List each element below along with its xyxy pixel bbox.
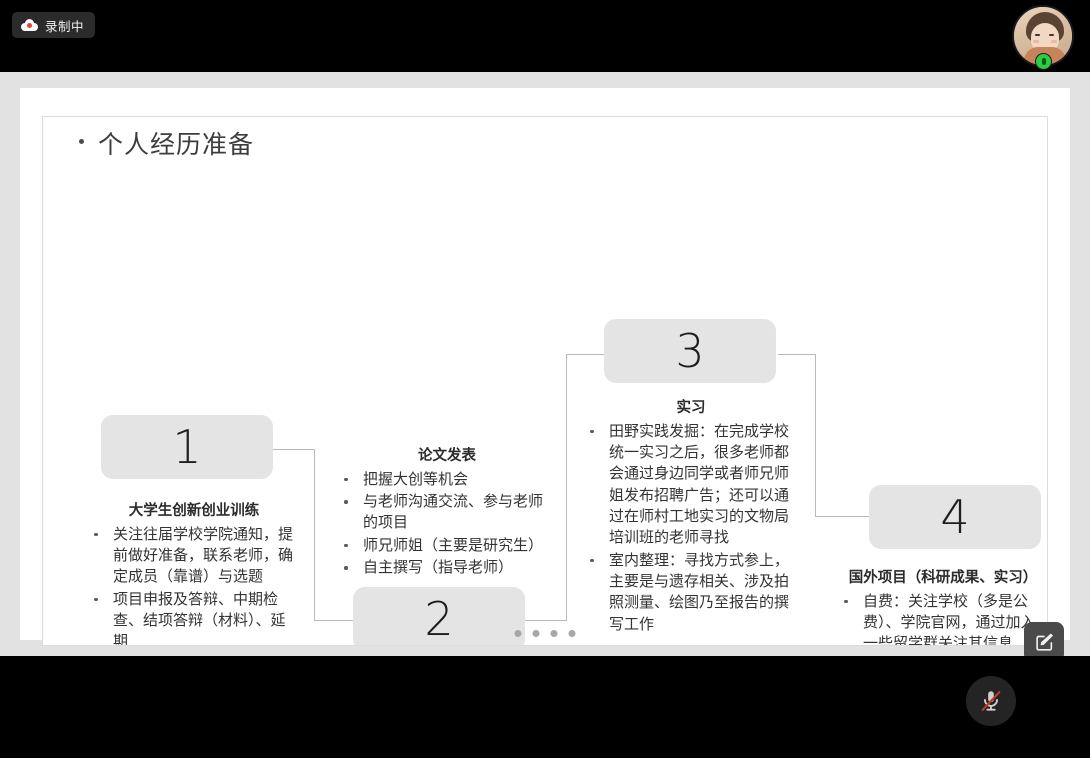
step-block-2-list: 把握大创等机会 与老师沟通交流、参与老师的项目 师兄师姐（主要是研究生） 自主撰…: [339, 469, 555, 578]
mic-active-indicator: [1035, 53, 1052, 70]
page-dot[interactable]: [569, 630, 576, 637]
connector-3-4-top: [778, 354, 816, 355]
list-item: 师兄师姐（主要是研究生）: [339, 535, 555, 556]
connector-1-2-h1: [268, 449, 315, 450]
step-block-1-list: 关注往届学校学院通知，提前做好准备，联系老师，确定成员（靠谱）与选题 项目申报及…: [89, 524, 299, 646]
page-title: 个人经历准备: [98, 125, 254, 161]
page-dot[interactable]: [551, 630, 558, 637]
bottom-bar: [0, 656, 1090, 758]
step-block-4-heading: 国外项目（科研成果、实习）: [839, 569, 1047, 588]
list-item: 室内整理：寻找方式参上，主要是与遗存相关、涉及拍照测量、绘图乃至报告的撰写工作: [585, 550, 797, 635]
cloud-record-icon: [21, 19, 38, 31]
step-number-2-label: 2: [424, 592, 453, 646]
step-number-3: 3: [604, 319, 776, 383]
participant-avatar[interactable]: [1012, 5, 1074, 67]
shared-screen-frame: 个人经历准备 1 2: [0, 72, 1090, 656]
step-number-4: 4: [869, 485, 1041, 549]
connector-3-4-h: [815, 516, 870, 517]
step-block-2: 论文发表 把握大创等机会 与老师沟通交流、参与老师的项目 师兄师姐（主要是研究生…: [339, 447, 555, 579]
step-block-4-list: 自费：关注学校（多是公费）、学院官网，通过加入一些留学群关注其信息 公费：除校内…: [839, 591, 1047, 646]
step-number-1-label: 1: [172, 420, 201, 474]
slide-canvas: 个人经历准备 1 2: [20, 88, 1070, 640]
step-block-4: 国外项目（科研成果、实习） 自费：关注学校（多是公费）、学院官网，通过加入一些留…: [839, 569, 1047, 646]
list-item: 与老师沟通交流、参与老师的项目: [339, 491, 555, 534]
list-item: 自费：关注学校（多是公费）、学院官网，通过加入一些留学群关注其信息: [839, 591, 1047, 646]
step-block-3: 实习 田野实践发掘：在完成学校统一实习之后，很多老师都会通过身边同学或者师兄师姐…: [585, 399, 797, 636]
connector-3-4-v: [815, 354, 816, 517]
list-item: 把握大创等机会: [339, 469, 555, 490]
page-dot[interactable]: [515, 630, 522, 637]
mic-muted-icon: [978, 688, 1004, 714]
step-number-2: 2: [353, 587, 525, 646]
step-number-4-label: 4: [940, 490, 969, 544]
pencil-annotate-icon: [1033, 631, 1055, 653]
step-number-3-label: 3: [675, 324, 704, 378]
recording-badge[interactable]: 录制中: [12, 12, 95, 38]
step-block-1-heading: 大学生创新创业训练: [89, 502, 299, 521]
page-dot[interactable]: [533, 630, 540, 637]
title-bullet: [79, 139, 84, 144]
top-bar: 录制中 张垚的屏幕共享: [0, 0, 1090, 72]
step-block-1: 大学生创新创业训练 关注往届学校学院通知，提前做好准备，联系老师，确定成员（靠谱…: [89, 502, 299, 646]
connector-2-3-top: [566, 354, 606, 355]
list-item: 项目申报及答辩、中期检查、结项答辩（材料）、延期: [89, 589, 299, 646]
connector-2-3-v: [566, 354, 567, 621]
page-indicator-dots[interactable]: [515, 630, 576, 637]
step-block-2-heading: 论文发表: [339, 447, 555, 466]
step-number-1: 1: [101, 415, 273, 479]
list-item: 自主撰写（指导老师）: [339, 557, 555, 578]
zoom-screen-share-window: 录制中 张垚的屏幕共享 个人经历准备: [0, 0, 1090, 758]
step-block-3-list: 田野实践发掘：在完成学校统一实习之后，很多老师都会通过身边同学或者师兄师姐发布招…: [585, 421, 797, 635]
connector-1-2-h2: [314, 620, 354, 621]
mic-mute-button[interactable]: [966, 676, 1016, 726]
connector-1-2-v: [314, 449, 315, 621]
recording-label: 录制中: [45, 16, 84, 35]
presentation-slide: 个人经历准备 1 2: [42, 116, 1048, 646]
step-block-3-heading: 实习: [585, 399, 797, 418]
list-item: 田野实践发掘：在完成学校统一实习之后，很多老师都会通过身边同学或者师兄师姐发布招…: [585, 421, 797, 549]
list-item: 关注往届学校学院通知，提前做好准备，联系老师，确定成员（靠谱）与选题: [89, 524, 299, 588]
